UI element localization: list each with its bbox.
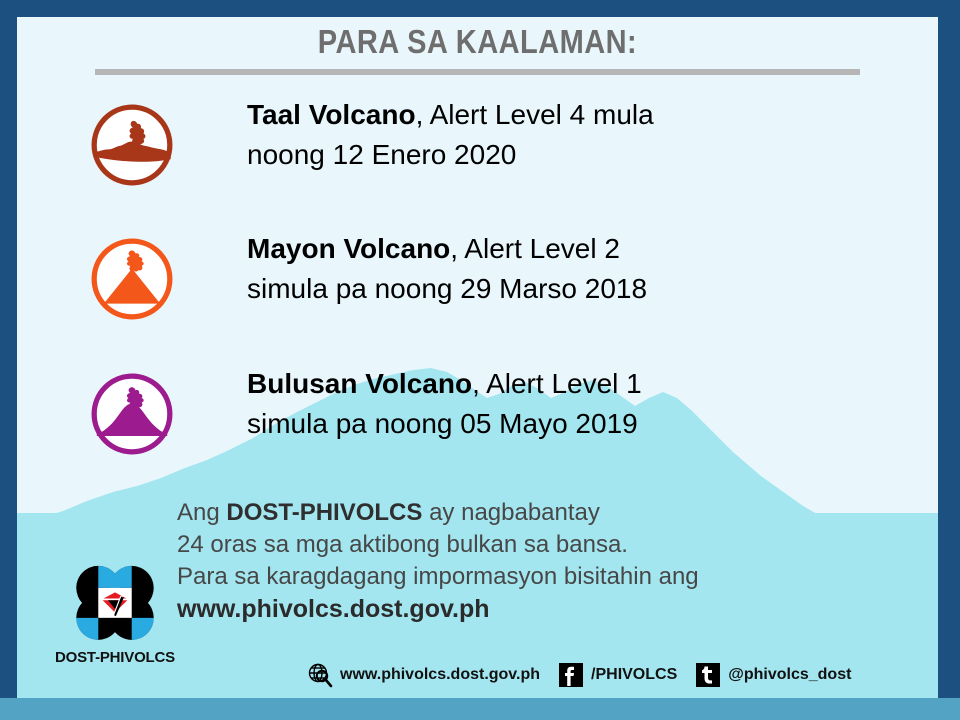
blurb-line-1-pre: Ang xyxy=(177,499,226,526)
volcano-text-cell: Taal Volcano, Alert Level 4 mula noong 1… xyxy=(247,95,938,175)
volcano-alert-text: , Alert Level 2 xyxy=(450,233,620,264)
poster-card: PARA SA KAALAMAN: Taal Volcano, Aler xyxy=(17,17,938,698)
social-footer: www.phivolcs.dost.gov.ph /PHIVOLCS @phiv… xyxy=(307,662,924,688)
volcano-line-1: Bulusan Volcano, Alert Level 1 xyxy=(247,364,918,404)
volcano-name: Mayon Volcano xyxy=(247,233,450,264)
volcano-icon-cell xyxy=(17,229,247,323)
globe-search-icon xyxy=(307,662,333,688)
volcano-line-1: Taal Volcano, Alert Level 4 mula xyxy=(247,95,918,135)
bulusan-volcano-icon xyxy=(88,370,176,458)
website-social-label: www.phivolcs.dost.gov.ph xyxy=(340,666,540,684)
volcano-name: Bulusan Volcano xyxy=(247,368,472,399)
mayon-volcano-icon xyxy=(88,235,176,323)
taal-volcano-icon xyxy=(88,101,176,189)
dost-phivolcs-logo: DOST-PHIVOLCS xyxy=(35,558,195,666)
twitter-social-label: @phivolcs_dost xyxy=(728,666,851,684)
page-title: PARA SA KAALAMAN: xyxy=(72,23,882,61)
volcano-line-2: simula pa noong 05 Mayo 2019 xyxy=(247,404,918,444)
twitter-icon xyxy=(695,662,721,688)
volcano-line-2: simula pa noong 29 Marso 2018 xyxy=(247,269,918,309)
volcano-row: Bulusan Volcano, Alert Level 1 simula pa… xyxy=(17,364,938,458)
volcano-text-cell: Bulusan Volcano, Alert Level 1 simula pa… xyxy=(247,364,938,444)
website-link[interactable]: www.phivolcs.dost.gov.ph xyxy=(177,593,908,626)
blurb-line-1-post: ay nagbabantay xyxy=(422,499,599,526)
volcano-alert-text: , Alert Level 4 mula xyxy=(416,99,654,130)
logo-label: DOST-PHIVOLCS xyxy=(35,649,195,666)
facebook-social-label: /PHIVOLCS xyxy=(591,666,677,684)
volcano-line-2: noong 12 Enero 2020 xyxy=(247,135,918,175)
page-title-wrap: PARA SA KAALAMAN: xyxy=(17,23,938,61)
facebook-social-item[interactable]: /PHIVOLCS xyxy=(558,662,677,688)
advisory-blurb: Ang DOST-PHIVOLCS ay nagbabantay 24 oras… xyxy=(177,497,908,626)
blurb-line-1: Ang DOST-PHIVOLCS ay nagbabantay xyxy=(177,497,908,529)
agency-name: DOST-PHIVOLCS xyxy=(226,499,422,526)
blurb-line-3: Para sa karagdagang impormasyon bisitahi… xyxy=(177,561,908,593)
facebook-icon xyxy=(558,662,584,688)
title-divider xyxy=(95,69,860,75)
twitter-social-item[interactable]: @phivolcs_dost xyxy=(695,662,851,688)
volcano-text-cell: Mayon Volcano, Alert Level 2 simula pa n… xyxy=(247,229,938,309)
phivolcs-advisory-poster: PARA SA KAALAMAN: Taal Volcano, Aler xyxy=(0,0,960,720)
website-social-item[interactable]: www.phivolcs.dost.gov.ph xyxy=(307,662,540,688)
volcano-row: Taal Volcano, Alert Level 4 mula noong 1… xyxy=(17,95,938,189)
blurb-line-2: 24 oras sa mga aktibong bulkan sa bansa. xyxy=(177,529,908,561)
volcano-line-1: Mayon Volcano, Alert Level 2 xyxy=(247,229,918,269)
volcano-icon-cell xyxy=(17,95,247,189)
volcano-row: Mayon Volcano, Alert Level 2 simula pa n… xyxy=(17,229,938,323)
bottom-accent-band xyxy=(0,698,960,720)
volcano-name: Taal Volcano xyxy=(247,99,416,130)
dost-logo-icon xyxy=(61,558,169,646)
volcano-alert-text: , Alert Level 1 xyxy=(472,368,642,399)
volcano-icon-cell xyxy=(17,364,247,458)
